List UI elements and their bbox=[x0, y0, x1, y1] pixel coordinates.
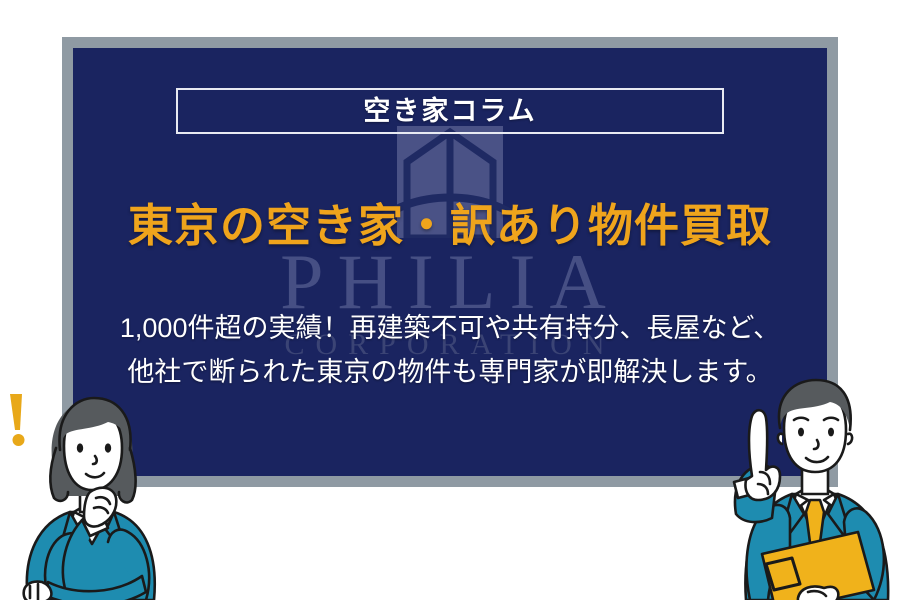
body-copy-line-1: 1,000件超の実績！再建築不可や共有持分、長屋など、 bbox=[73, 306, 827, 350]
headline: 東京の空き家・訳あり物件買取 bbox=[73, 203, 827, 248]
poster-canvas: PHILIA CORPORATION 空き家コラム 東京の空き家・訳あり物件買取… bbox=[0, 0, 900, 600]
column-title-label: 空き家コラム bbox=[363, 98, 536, 125]
illustration-woman-thinking bbox=[0, 386, 182, 600]
column-title-box: 空き家コラム bbox=[176, 88, 724, 134]
illustration-man-pointing bbox=[714, 372, 900, 600]
